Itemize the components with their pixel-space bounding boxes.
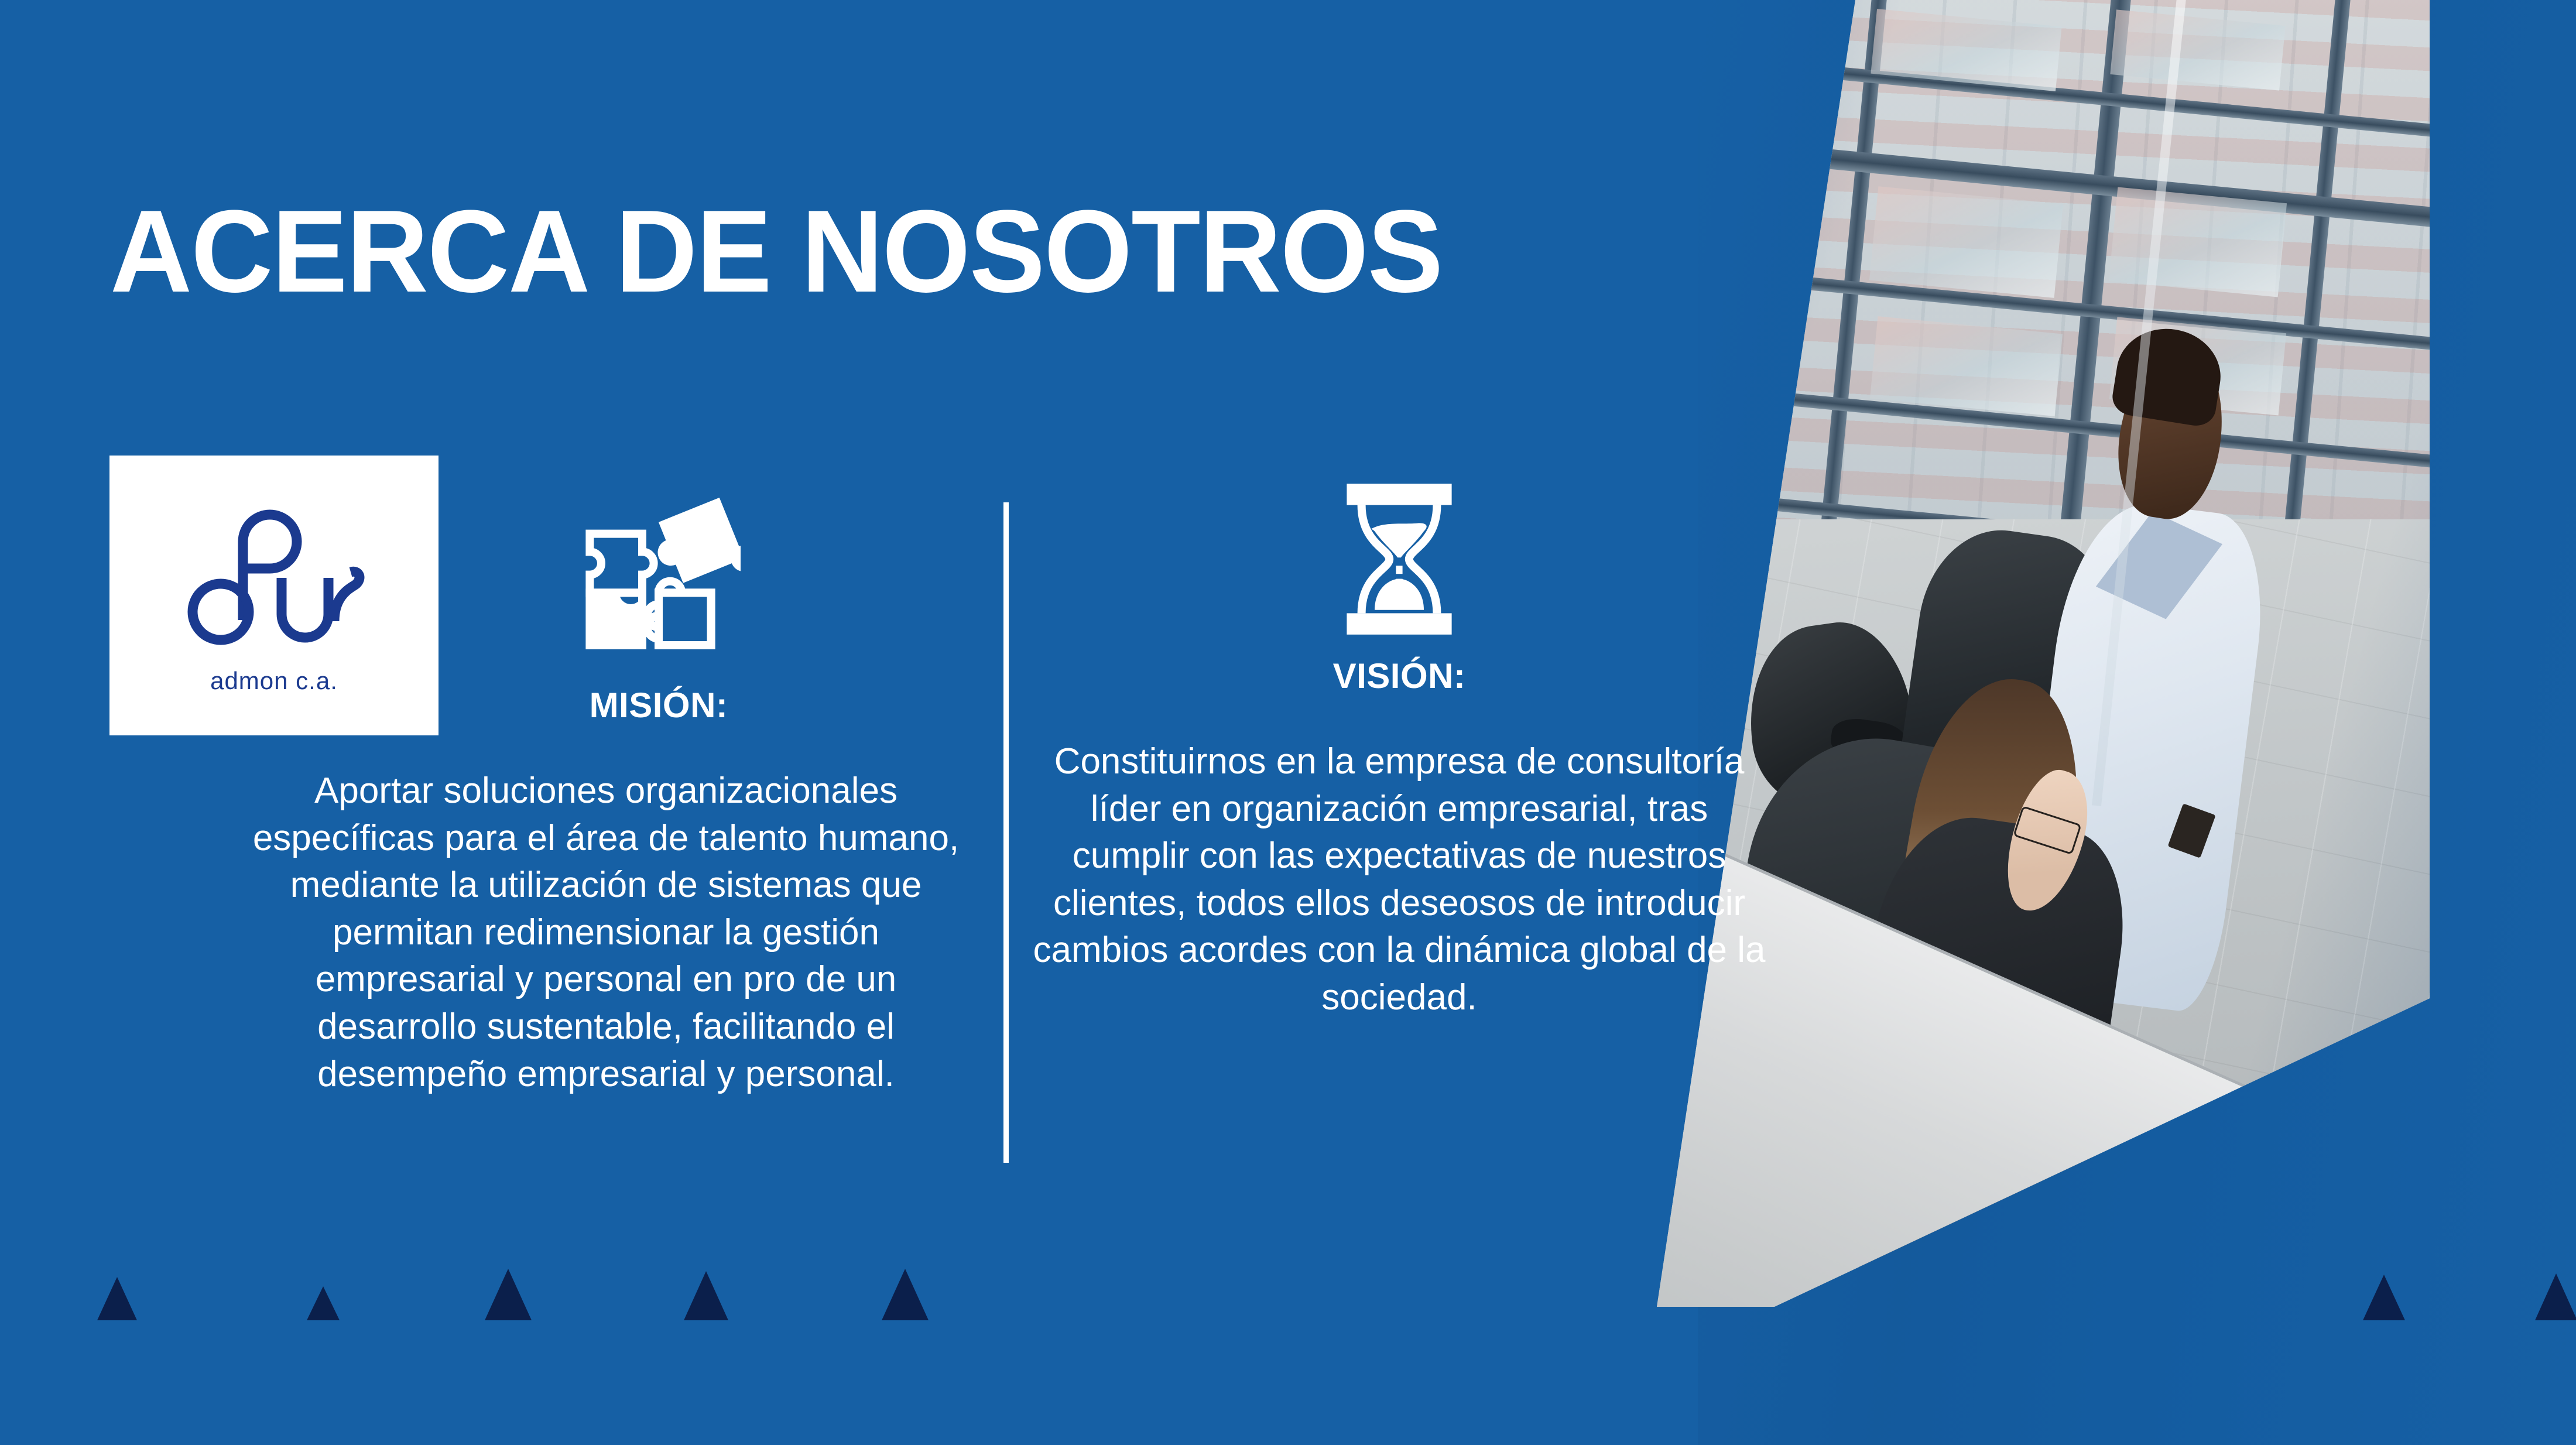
mision-body: Aportar soluciones organizacionales espe…: [111, 768, 960, 1098]
triangle-decoration: [684, 1271, 728, 1320]
mision-column: MISIÓN: Aportar soluciones organizaciona…: [111, 474, 960, 1098]
mision-heading: MISIÓN:: [111, 685, 960, 725]
triangle-decoration: [882, 1269, 929, 1320]
hourglass-icon: [1030, 463, 1768, 656]
triangle-decoration: [307, 1286, 340, 1320]
vision-column: VISIÓN: Constituirnos en la empresa de c…: [1030, 463, 1768, 1022]
triangle-decoration: [2535, 1273, 2576, 1320]
column-divider: [1003, 502, 1009, 1163]
puzzle-pieces-icon: [111, 474, 960, 685]
page-title: ACERCA DE NOSOTROS: [110, 193, 1442, 310]
triangle-decoration: [97, 1277, 137, 1320]
slide-root: ACERCA DE NOSOTROS admon c.a.: [0, 0, 2576, 1445]
vision-heading: VISIÓN:: [1030, 656, 1768, 696]
vision-body: Constituirnos en la empresa de consultor…: [1030, 738, 1768, 1022]
triangle-decoration: [485, 1269, 532, 1320]
triangle-decoration: [2363, 1275, 2405, 1320]
